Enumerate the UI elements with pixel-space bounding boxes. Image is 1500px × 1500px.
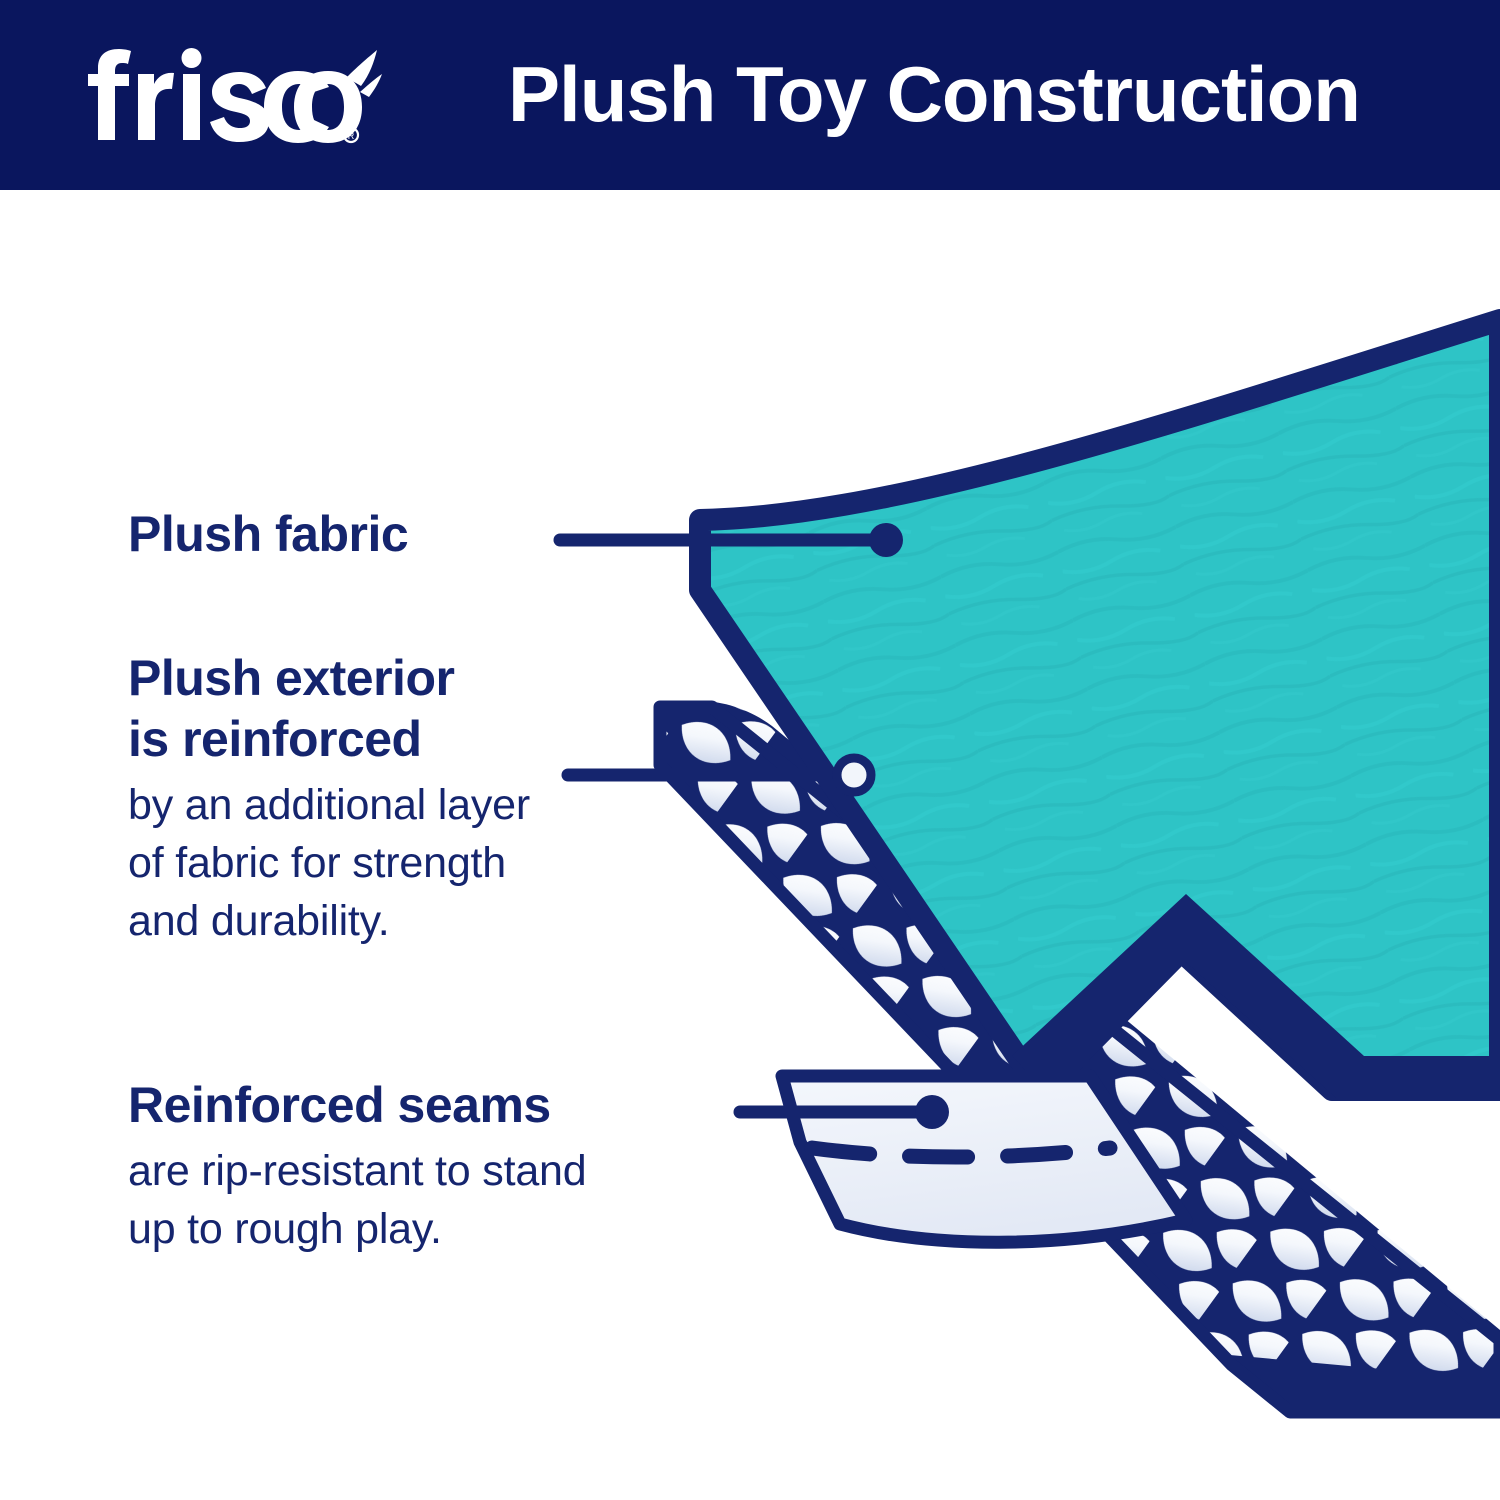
callout-plush-fabric: Plush fabric xyxy=(128,504,598,565)
svg-text:R: R xyxy=(348,131,355,141)
page-title: Plush Toy Construction xyxy=(508,44,1408,144)
frisco-logo: R xyxy=(88,48,388,144)
header-bar: R Plush Toy Construction xyxy=(0,0,1500,190)
infographic-page: R Plush Toy Construction xyxy=(0,0,1500,1500)
callout-plush-exterior: Plush exterior is reinforced by an addit… xyxy=(128,648,728,950)
callout-reinforced-seams-heading: Reinforced seams xyxy=(128,1075,808,1136)
callout-plush-exterior-heading: Plush exterior is reinforced xyxy=(128,648,728,770)
marker-dot-reinforced-seams xyxy=(915,1095,949,1129)
callout-reinforced-seams-body: are rip-resistant to stand up to rough p… xyxy=(128,1142,808,1258)
callout-reinforced-seams: Reinforced seams are rip-resistant to st… xyxy=(128,1075,808,1258)
marker-dot-plush-exterior xyxy=(837,758,871,792)
marker-dot-plush-fabric xyxy=(869,523,903,557)
callout-plush-fabric-heading: Plush fabric xyxy=(128,504,598,565)
callout-plush-exterior-body: by an additional layer of fabric for str… xyxy=(128,776,728,950)
